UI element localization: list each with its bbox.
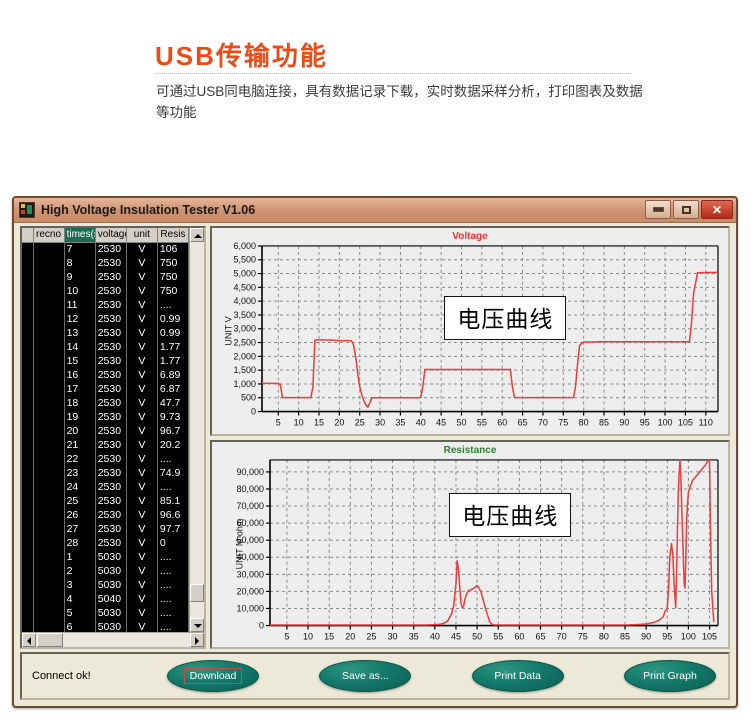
svg-text:65: 65 <box>518 418 528 428</box>
cell-resis[interactable]: 85.1 <box>157 494 188 508</box>
cell-times[interactable]: 28 <box>64 536 95 550</box>
cell-voltage[interactable]: 2530 <box>95 354 126 368</box>
cell-resis[interactable]: 6.89 <box>157 368 188 382</box>
cell-voltage[interactable]: 5030 <box>95 606 126 620</box>
resistance-overlay-label: 电压曲线 <box>449 493 571 537</box>
row-marker[interactable] <box>22 508 33 522</box>
svg-text:55: 55 <box>493 631 503 641</box>
cell-resis[interactable]: 0.99 <box>157 326 188 340</box>
cell-recno[interactable] <box>33 256 64 270</box>
table-row[interactable]: 272530V97.7 <box>22 522 189 536</box>
cell-recno[interactable] <box>33 494 64 508</box>
svg-text:40,000: 40,000 <box>237 552 264 562</box>
row-marker[interactable] <box>22 340 33 354</box>
row-marker[interactable] <box>22 396 33 410</box>
cell-times[interactable]: 11 <box>64 298 95 312</box>
svg-text:80,000: 80,000 <box>237 483 264 493</box>
cell-voltage[interactable]: 5030 <box>95 564 126 578</box>
svg-text:45: 45 <box>451 631 461 641</box>
cell-unit[interactable]: V <box>126 382 157 396</box>
cell-recno[interactable] <box>33 396 64 410</box>
svg-text:95: 95 <box>640 418 650 428</box>
svg-text:90: 90 <box>641 631 651 641</box>
cell-times[interactable]: 4 <box>64 592 95 606</box>
cell-voltage[interactable]: 2530 <box>95 312 126 326</box>
svg-text:85: 85 <box>599 418 609 428</box>
cell-unit[interactable]: V <box>126 368 157 382</box>
svg-text:105: 105 <box>678 418 693 428</box>
cell-times[interactable]: 13 <box>64 326 95 340</box>
cell-voltage[interactable]: 2530 <box>95 256 126 270</box>
cell-unit[interactable]: V <box>126 578 157 592</box>
svg-text:5,000: 5,000 <box>234 269 256 279</box>
grid-horizontal-scrollbar[interactable] <box>22 632 204 647</box>
cell-recno[interactable] <box>33 326 64 340</box>
table-row[interactable]: 82530V750 <box>22 256 189 270</box>
svg-text:500: 500 <box>241 393 256 403</box>
cell-resis[interactable]: 1.77 <box>157 340 188 354</box>
cell-unit[interactable]: V <box>126 298 157 312</box>
svg-text:55: 55 <box>477 418 487 428</box>
row-marker[interactable] <box>22 606 33 620</box>
svg-text:1,000: 1,000 <box>234 379 256 389</box>
cell-unit[interactable]: V <box>126 256 157 270</box>
cell-resis[interactable]: 9.73 <box>157 410 188 424</box>
cell-recno[interactable] <box>33 312 64 326</box>
cell-resis[interactable]: 750 <box>157 256 188 270</box>
cell-resis[interactable]: 1.77 <box>157 354 188 368</box>
cell-recno[interactable] <box>33 480 64 494</box>
download-button[interactable]: Download <box>167 660 259 692</box>
table-row[interactable]: 162530V6.89 <box>22 368 189 382</box>
cell-recno[interactable] <box>33 284 64 298</box>
row-marker[interactable] <box>22 326 33 340</box>
cell-recno[interactable] <box>33 522 64 536</box>
cell-unit[interactable]: V <box>126 494 157 508</box>
svg-text:5,500: 5,500 <box>234 255 256 265</box>
cell-times[interactable]: 3 <box>64 578 95 592</box>
table-row[interactable]: 172530V6.87 <box>22 382 189 396</box>
table-row[interactable]: 15030V.... <box>22 550 189 564</box>
cell-unit[interactable]: V <box>126 354 157 368</box>
row-marker[interactable] <box>22 466 33 480</box>
svg-text:6,000: 6,000 <box>234 241 256 251</box>
row-marker[interactable] <box>22 284 33 298</box>
row-marker[interactable] <box>22 242 33 256</box>
table-row[interactable]: 252530V85.1 <box>22 494 189 508</box>
column-header-times[interactable]: times(s) <box>64 228 95 242</box>
hscroll-thumb[interactable] <box>37 633 63 647</box>
cell-recno[interactable] <box>33 508 64 522</box>
table-row[interactable]: 142530V1.77 <box>22 340 189 354</box>
cell-times[interactable]: 17 <box>64 382 95 396</box>
svg-text:70: 70 <box>538 418 548 428</box>
cell-unit[interactable]: V <box>126 410 157 424</box>
cell-unit[interactable]: V <box>126 326 157 340</box>
cell-unit[interactable]: V <box>126 564 157 578</box>
scroll-up-arrow-icon[interactable] <box>190 228 204 242</box>
table-row[interactable]: 102530V750 <box>22 284 189 298</box>
cell-voltage[interactable]: 2530 <box>95 340 126 354</box>
svg-text:30: 30 <box>388 631 398 641</box>
grid-table-area[interactable]: recno times(s) voltage unit Resis 72530V… <box>22 228 189 632</box>
cell-voltage[interactable]: 2530 <box>95 438 126 452</box>
row-marker[interactable] <box>22 438 33 452</box>
table-row[interactable]: 242530V.... <box>22 480 189 494</box>
svg-text:1,500: 1,500 <box>234 365 256 375</box>
cell-times[interactable]: 16 <box>64 368 95 382</box>
cell-voltage[interactable]: 2530 <box>95 424 126 438</box>
svg-text:50,000: 50,000 <box>237 535 264 545</box>
cell-times[interactable]: 20 <box>64 424 95 438</box>
table-row[interactable]: 282530V0 <box>22 536 189 550</box>
cell-resis[interactable]: .... <box>157 550 188 564</box>
cell-unit[interactable]: V <box>126 480 157 494</box>
cell-unit[interactable]: V <box>126 606 157 620</box>
svg-text:75: 75 <box>558 418 568 428</box>
row-marker[interactable] <box>22 522 33 536</box>
cell-times[interactable]: 19 <box>64 410 95 424</box>
svg-text:2,500: 2,500 <box>234 338 256 348</box>
cell-resis[interactable]: .... <box>157 480 188 494</box>
window-client-area: recno times(s) voltage unit Resis 72530V… <box>16 223 734 704</box>
cell-voltage[interactable]: 2530 <box>95 396 126 410</box>
cell-voltage[interactable]: 2530 <box>95 298 126 312</box>
cell-resis[interactable]: .... <box>157 592 188 606</box>
minimize-button[interactable] <box>645 200 671 219</box>
column-header-unit[interactable]: unit <box>126 228 157 242</box>
svg-text:80: 80 <box>599 631 609 641</box>
cell-recno[interactable] <box>33 452 64 466</box>
row-marker[interactable] <box>22 452 33 466</box>
maximize-button[interactable] <box>673 200 699 219</box>
maximize-icon <box>682 206 691 214</box>
promo-description: 可通过USB同电脑连接，具有数据记录下载，实时数据采样分析，打印图表及数据等功能 <box>156 82 656 124</box>
voltage-overlay-label: 电压曲线 <box>444 296 566 340</box>
table-row[interactable]: 202530V96.7 <box>22 424 189 438</box>
cell-times[interactable]: 21 <box>64 438 95 452</box>
svg-text:3,000: 3,000 <box>234 324 256 334</box>
scroll-left-arrow-icon[interactable] <box>22 633 36 647</box>
cell-resis[interactable]: 96.6 <box>157 508 188 522</box>
table-row[interactable]: 192530V9.73 <box>22 410 189 424</box>
cell-voltage[interactable]: 2530 <box>95 326 126 340</box>
cell-times[interactable]: 10 <box>64 284 95 298</box>
cell-resis[interactable]: 47.7 <box>157 396 188 410</box>
svg-text:100: 100 <box>681 631 696 641</box>
table-head: recno times(s) voltage unit Resis <box>22 228 189 242</box>
cell-voltage[interactable]: 5030 <box>95 578 126 592</box>
cell-times[interactable]: 2 <box>64 564 95 578</box>
cell-voltage[interactable]: 2530 <box>95 494 126 508</box>
cell-unit[interactable]: V <box>126 242 157 256</box>
table-row[interactable]: 152530V1.77 <box>22 354 189 368</box>
cell-voltage[interactable]: 2530 <box>95 284 126 298</box>
button-label: Print Data <box>494 670 541 682</box>
table-row[interactable]: 262530V96.6 <box>22 508 189 522</box>
cell-recno[interactable] <box>33 270 64 284</box>
cell-unit[interactable]: V <box>126 438 157 452</box>
cell-recno[interactable] <box>33 298 64 312</box>
hscroll-track[interactable] <box>36 633 190 647</box>
cell-unit[interactable]: V <box>126 396 157 410</box>
cell-times[interactable]: 24 <box>64 480 95 494</box>
cell-times[interactable]: 8 <box>64 256 95 270</box>
bottom-toolbar: Connect ok! DownloadSave as...Print Data… <box>20 652 730 700</box>
svg-text:10: 10 <box>303 631 313 641</box>
svg-text:40: 40 <box>430 631 440 641</box>
svg-text:60,000: 60,000 <box>237 518 264 528</box>
promo-header: USB传输功能 可通过USB同电脑连接，具有数据记录下载，实时数据采样分析，打印… <box>0 0 750 190</box>
cell-times[interactable]: 27 <box>64 522 95 536</box>
cell-voltage[interactable]: 2530 <box>95 368 126 382</box>
table-row[interactable]: 232530V74.9 <box>22 466 189 480</box>
promo-title: USB传输功能 <box>155 36 328 73</box>
cell-recno[interactable] <box>33 242 64 256</box>
table-row[interactable]: 222530V.... <box>22 452 189 466</box>
row-marker[interactable] <box>22 270 33 284</box>
cell-recno[interactable] <box>33 550 64 564</box>
row-marker[interactable] <box>22 550 33 564</box>
row-marker[interactable] <box>22 592 33 606</box>
data-grid[interactable]: recno times(s) voltage unit Resis 72530V… <box>20 226 206 649</box>
row-marker[interactable] <box>22 256 33 270</box>
svg-text:25: 25 <box>355 418 365 428</box>
cell-unit[interactable]: V <box>126 424 157 438</box>
cell-times[interactable]: 15 <box>64 354 95 368</box>
table-row[interactable]: 72530V106 <box>22 242 189 256</box>
cell-resis[interactable]: .... <box>157 620 188 632</box>
svg-text:60: 60 <box>497 418 507 428</box>
cell-recno[interactable] <box>33 564 64 578</box>
cell-times[interactable]: 6 <box>64 620 95 632</box>
row-marker[interactable] <box>22 354 33 368</box>
cell-recno[interactable] <box>33 410 64 424</box>
svg-text:30,000: 30,000 <box>237 569 264 579</box>
row-marker[interactable] <box>22 410 33 424</box>
cell-resis[interactable]: 750 <box>157 270 188 284</box>
row-marker[interactable] <box>22 564 33 578</box>
svg-text:15: 15 <box>324 631 334 641</box>
table-header-row: recno times(s) voltage unit Resis <box>22 228 189 242</box>
column-header-resis[interactable]: Resis <box>157 228 188 242</box>
cell-voltage[interactable]: 2530 <box>95 270 126 284</box>
cell-recno[interactable] <box>33 354 64 368</box>
cell-voltage[interactable]: 2530 <box>95 522 126 536</box>
svg-text:35: 35 <box>409 631 419 641</box>
svg-text:90,000: 90,000 <box>237 466 264 476</box>
svg-text:4,500: 4,500 <box>234 282 256 292</box>
row-marker[interactable] <box>22 536 33 550</box>
cell-times[interactable]: 7 <box>64 242 95 256</box>
close-icon: ✕ <box>712 204 722 216</box>
application-window: High Voltage Insulation Tester V1.06 ✕ r <box>12 196 738 708</box>
cell-resis[interactable]: .... <box>157 452 188 466</box>
svg-text:15: 15 <box>314 418 324 428</box>
table-row[interactable]: 212530V20.2 <box>22 438 189 452</box>
svg-text:70: 70 <box>557 631 567 641</box>
table-row[interactable]: 132530V0.99 <box>22 326 189 340</box>
table-row[interactable]: 122530V0.99 <box>22 312 189 326</box>
row-marker[interactable] <box>22 382 33 396</box>
cell-unit[interactable]: V <box>126 466 157 480</box>
cell-resis[interactable]: 20.2 <box>157 438 188 452</box>
cell-times[interactable]: 12 <box>64 312 95 326</box>
cell-unit[interactable]: V <box>126 452 157 466</box>
cell-recno[interactable] <box>33 536 64 550</box>
column-header-voltage[interactable]: voltage <box>95 228 126 242</box>
cell-recno[interactable] <box>33 466 64 480</box>
cell-voltage[interactable]: 5040 <box>95 592 126 606</box>
voltage-chart-panel: Voltage UNIT V 05001,0001,5002,0002,5003… <box>210 226 730 436</box>
print-data-button[interactable]: Print Data <box>472 660 564 692</box>
cell-voltage[interactable]: 2530 <box>95 382 126 396</box>
action-buttons: DownloadSave as...Print DataPrint Graph <box>167 654 716 698</box>
cell-resis[interactable]: .... <box>157 578 188 592</box>
svg-text:75: 75 <box>578 631 588 641</box>
table-row[interactable]: 25030V.... <box>22 564 189 578</box>
cell-recno[interactable] <box>33 424 64 438</box>
cell-resis[interactable]: .... <box>157 606 188 620</box>
cell-resis[interactable]: 106 <box>157 242 188 256</box>
cell-resis[interactable]: 0.99 <box>157 312 188 326</box>
svg-text:5: 5 <box>276 418 281 428</box>
row-marker[interactable] <box>22 424 33 438</box>
row-marker[interactable] <box>22 298 33 312</box>
cell-unit[interactable]: V <box>126 270 157 284</box>
cell-voltage[interactable]: 2530 <box>95 480 126 494</box>
table-row[interactable]: 35030V.... <box>22 578 189 592</box>
svg-text:65: 65 <box>535 631 545 641</box>
svg-text:0: 0 <box>259 620 264 630</box>
svg-text:30: 30 <box>375 418 385 428</box>
svg-text:95: 95 <box>662 631 672 641</box>
svg-text:50: 50 <box>472 631 482 641</box>
cell-times[interactable]: 5 <box>64 606 95 620</box>
window-title: High Voltage Insulation Tester V1.06 <box>41 203 255 217</box>
cell-recno[interactable] <box>33 438 64 452</box>
close-button[interactable]: ✕ <box>701 200 733 219</box>
button-label: Download <box>184 668 243 684</box>
cell-voltage[interactable]: 2530 <box>95 536 126 550</box>
cell-recno[interactable] <box>33 340 64 354</box>
svg-text:5: 5 <box>284 631 289 641</box>
print-graph-button[interactable]: Print Graph <box>624 660 716 692</box>
cell-times[interactable]: 18 <box>64 396 95 410</box>
cell-voltage[interactable]: 2530 <box>95 466 126 480</box>
cell-recno[interactable] <box>33 592 64 606</box>
button-label: Save as... <box>342 670 389 682</box>
cell-resis[interactable]: 74.9 <box>157 466 188 480</box>
table-row[interactable]: 112530V.... <box>22 298 189 312</box>
cell-times[interactable]: 9 <box>64 270 95 284</box>
cell-unit[interactable]: V <box>126 312 157 326</box>
cell-resis[interactable]: 6.87 <box>157 382 188 396</box>
window-titlebar[interactable]: High Voltage Insulation Tester V1.06 ✕ <box>14 198 736 223</box>
row-marker[interactable] <box>22 368 33 382</box>
cell-voltage[interactable]: 5030 <box>95 550 126 564</box>
grid-vertical-scrollbar[interactable] <box>189 228 204 632</box>
window-controls: ✕ <box>645 200 733 219</box>
cell-recno[interactable] <box>33 606 64 620</box>
svg-text:25: 25 <box>366 631 376 641</box>
svg-text:4,000: 4,000 <box>234 296 256 306</box>
cell-recno[interactable] <box>33 578 64 592</box>
cell-unit[interactable]: V <box>126 340 157 354</box>
vscroll-track[interactable] <box>190 242 204 618</box>
row-marker[interactable] <box>22 620 33 632</box>
cell-times[interactable]: 22 <box>64 452 95 466</box>
cell-unit[interactable]: V <box>126 592 157 606</box>
row-marker[interactable] <box>22 312 33 326</box>
cell-times[interactable]: 1 <box>64 550 95 564</box>
row-marker[interactable] <box>22 578 33 592</box>
cell-unit[interactable]: V <box>126 284 157 298</box>
cell-unit[interactable]: V <box>126 522 157 536</box>
svg-text:80: 80 <box>579 418 589 428</box>
svg-text:85: 85 <box>620 631 630 641</box>
svg-text:0: 0 <box>251 407 256 417</box>
cell-times[interactable]: 26 <box>64 508 95 522</box>
svg-text:20: 20 <box>334 418 344 428</box>
row-marker-header <box>22 228 33 242</box>
table-row[interactable]: 182530V47.7 <box>22 396 189 410</box>
table-row[interactable]: 55030V.... <box>22 606 189 620</box>
table-row[interactable]: 65030V.... <box>22 620 189 632</box>
cell-resis[interactable]: .... <box>157 564 188 578</box>
cell-times[interactable]: 23 <box>64 466 95 480</box>
cell-recno[interactable] <box>33 368 64 382</box>
svg-text:35: 35 <box>395 418 405 428</box>
cell-resis[interactable]: 0 <box>157 536 188 550</box>
cell-voltage[interactable]: 2530 <box>95 508 126 522</box>
cell-voltage[interactable]: 2530 <box>95 452 126 466</box>
scroll-down-arrow-icon[interactable] <box>190 618 204 632</box>
cell-times[interactable]: 14 <box>64 340 95 354</box>
save-as-button[interactable]: Save as... <box>319 660 411 692</box>
svg-text:45: 45 <box>436 418 446 428</box>
cell-voltage[interactable]: 2530 <box>95 410 126 424</box>
button-label: Print Graph <box>643 670 697 682</box>
svg-text:50: 50 <box>457 418 467 428</box>
cell-recno[interactable] <box>33 620 64 632</box>
work-area: recno times(s) voltage unit Resis 72530V… <box>16 223 734 649</box>
resistance-chart-plot: 010,00020,00030,00040,00050,00060,00070,… <box>212 442 728 648</box>
cell-resis[interactable]: 750 <box>157 284 188 298</box>
cell-unit[interactable]: V <box>126 550 157 564</box>
row-marker[interactable] <box>22 494 33 508</box>
cell-resis[interactable]: 97.7 <box>157 522 188 536</box>
table-row[interactable]: 92530V750 <box>22 270 189 284</box>
cell-resis[interactable]: 96.7 <box>157 424 188 438</box>
svg-text:20,000: 20,000 <box>237 586 264 596</box>
cell-unit[interactable]: V <box>126 620 157 632</box>
cell-recno[interactable] <box>33 382 64 396</box>
cell-times[interactable]: 25 <box>64 494 95 508</box>
column-header-recno[interactable]: recno <box>33 228 64 242</box>
row-marker[interactable] <box>22 480 33 494</box>
table-row[interactable]: 45040V.... <box>22 592 189 606</box>
vscroll-thumb[interactable] <box>190 584 204 602</box>
cell-voltage[interactable]: 2530 <box>95 242 126 256</box>
svg-text:110: 110 <box>699 418 713 428</box>
scroll-right-arrow-icon[interactable] <box>190 633 204 647</box>
cell-voltage[interactable]: 5030 <box>95 620 126 632</box>
promo-divider <box>156 73 631 74</box>
cell-unit[interactable]: V <box>126 536 157 550</box>
cell-unit[interactable]: V <box>126 508 157 522</box>
cell-resis[interactable]: .... <box>157 298 188 312</box>
